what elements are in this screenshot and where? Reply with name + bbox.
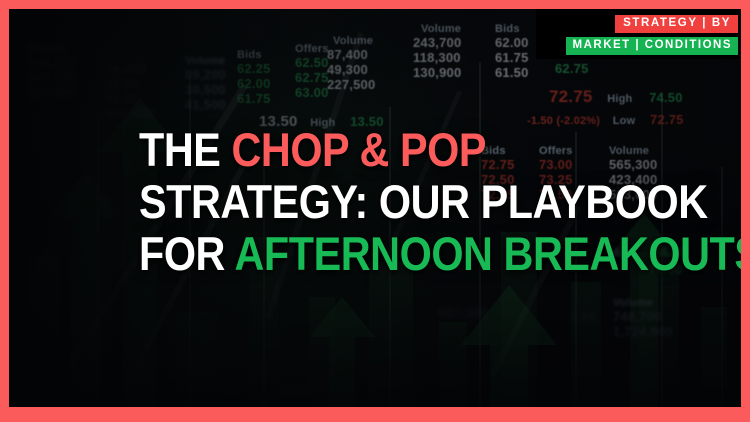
thumbnail-stage: Volume 144,300 102,300 120,800 14,200 62…	[9, 9, 741, 407]
headline-line-3-prefix: FOR	[139, 227, 235, 280]
headline-line-3-highlight: AFTERNOON BREAKOUTS	[235, 227, 741, 280]
headline-line-1: THE CHOP & POP	[139, 127, 632, 173]
logo-line-strategy-by: STRATEGY | BY	[615, 15, 738, 33]
headline-block: THE CHOP & POP STRATEGY: OUR PLAYBOOK FO…	[139, 127, 699, 277]
headline-line-1-highlight: CHOP & POP	[231, 123, 486, 176]
logo-line-market-conditions: MARKET | CONDITIONS	[566, 37, 739, 56]
headline-line-2: STRATEGY: OUR PLAYBOOK	[139, 179, 632, 225]
headline-line-1-prefix: THE	[139, 123, 231, 176]
headline-line-2-text: STRATEGY: OUR PLAYBOOK	[139, 175, 708, 228]
brand-logo: STRATEGY | BY MARKET | CONDITIONS	[536, 9, 742, 59]
headline-line-3: FOR AFTERNOON BREAKOUTS	[139, 231, 632, 277]
logo-backdrop: STRATEGY | BY MARKET | CONDITIONS	[536, 9, 742, 59]
thumbnail-frame: Volume 144,300 102,300 120,800 14,200 62…	[0, 0, 750, 422]
